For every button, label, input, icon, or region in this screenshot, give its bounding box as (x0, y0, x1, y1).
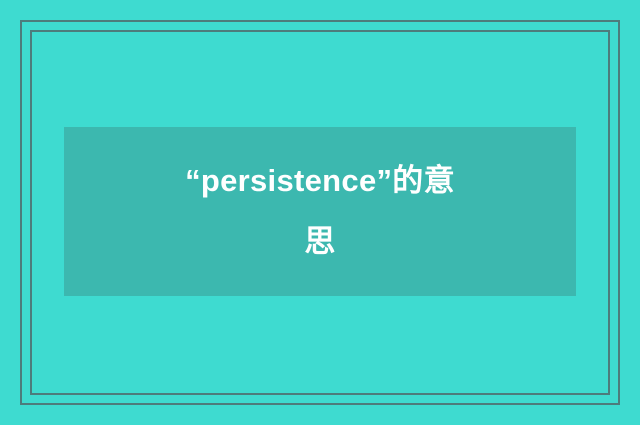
page-title: “persistence”的意思 (185, 151, 455, 272)
title-card: “persistence”的意思 (64, 127, 576, 296)
banner: “persistence”的意思 (0, 0, 640, 425)
